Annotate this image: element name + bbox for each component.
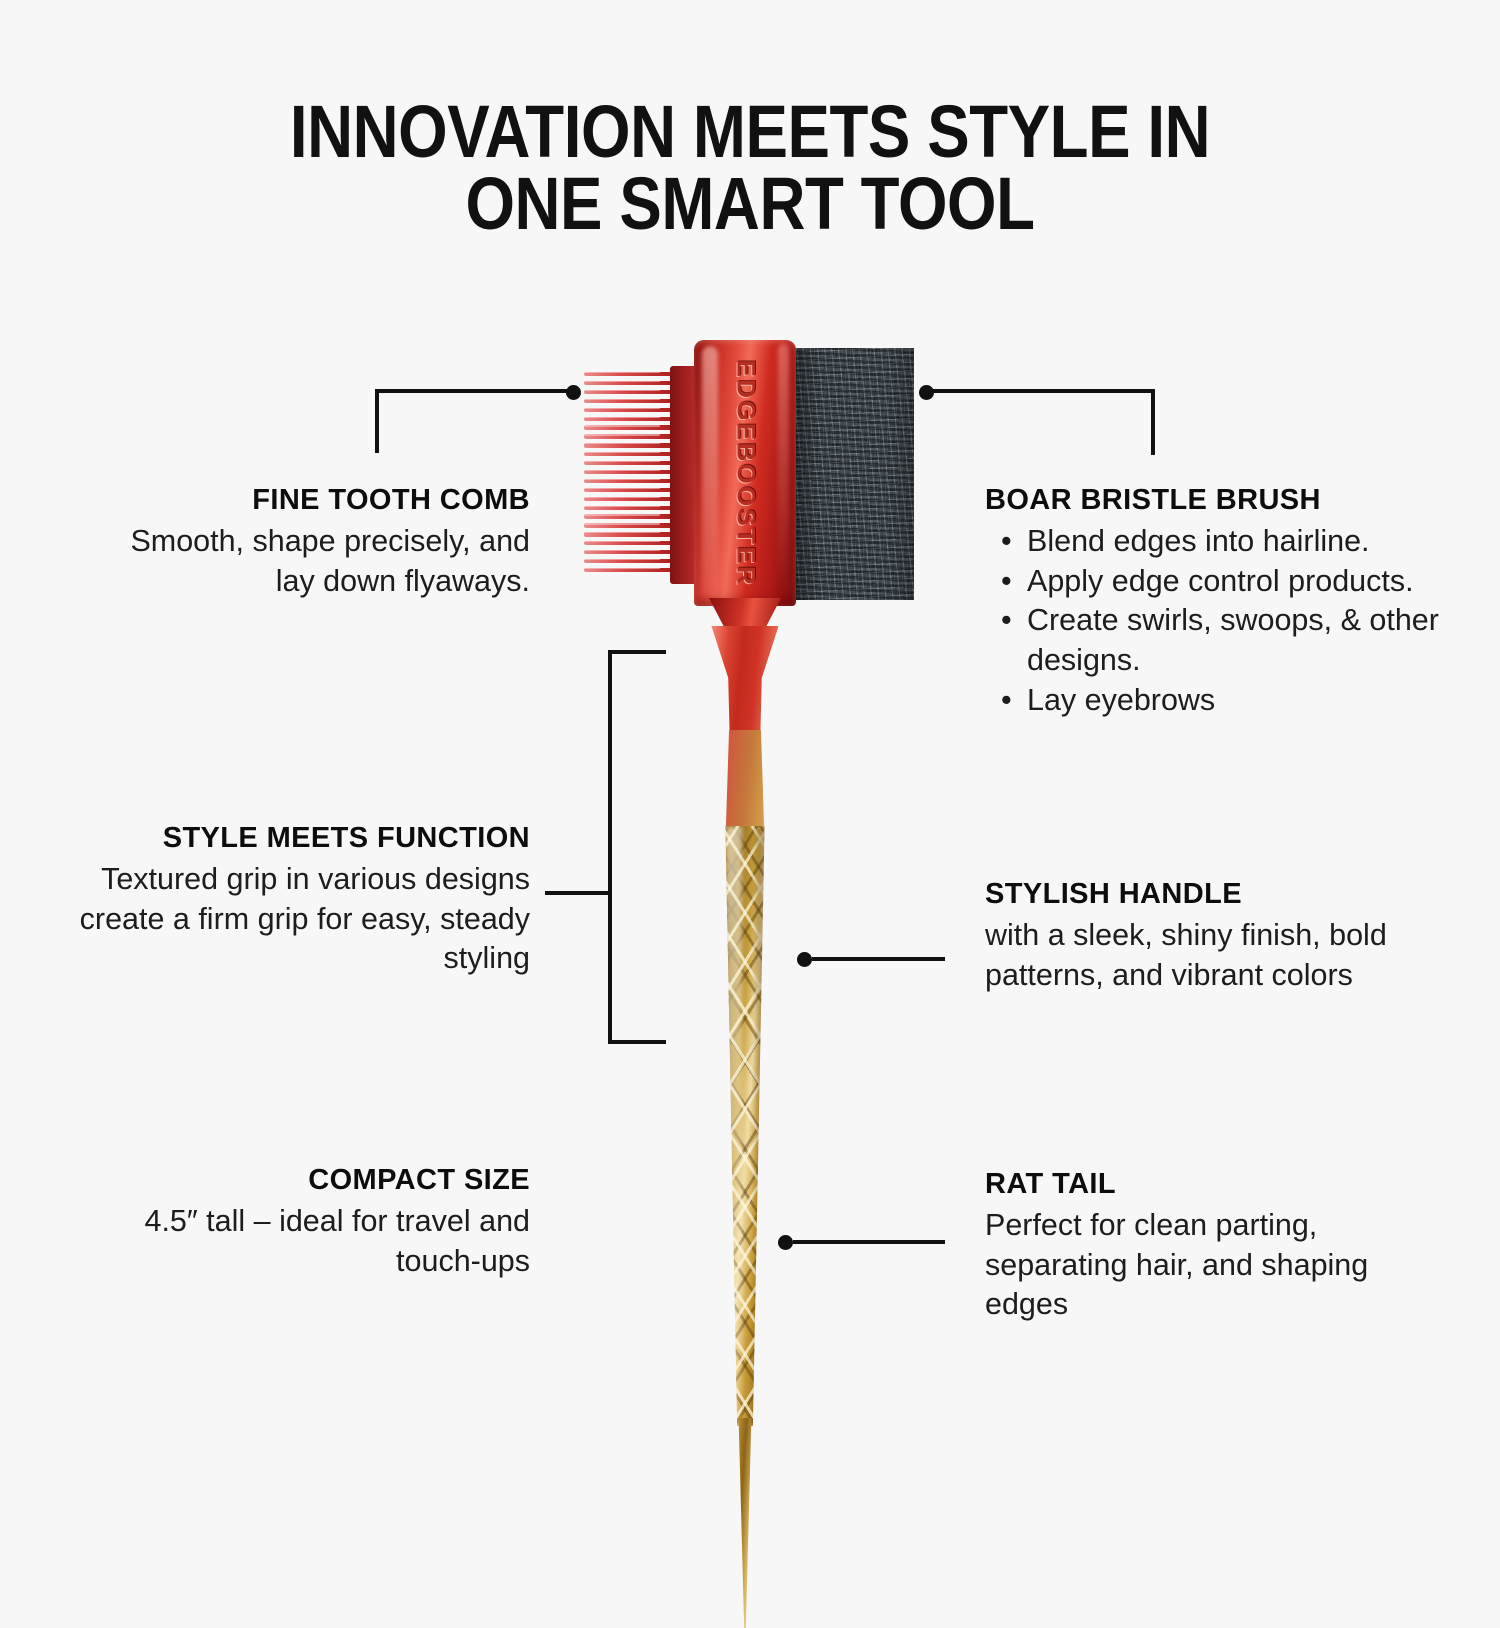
brush-body-red: EDGEBOOSTER bbox=[694, 340, 796, 606]
boar-bristle-brush-head bbox=[794, 348, 914, 600]
feature-title-stylish-handle: STYLISH HANDLE bbox=[985, 878, 1405, 911]
bullet-icon: • bbox=[1001, 562, 1012, 602]
leader-line-fine-tooth-comb-horizontal bbox=[375, 389, 573, 393]
leader-dot-boar-bristle bbox=[919, 385, 934, 400]
infographic-canvas: INNOVATION MEETS STYLE IN ONE SMART TOOL… bbox=[0, 0, 1500, 1500]
bullet-icon: • bbox=[1001, 522, 1012, 562]
feature-title-compact-size: COMPACT SIZE bbox=[140, 1164, 530, 1197]
feature-body-text: Perfect for clean parting, separating ha… bbox=[985, 1206, 1405, 1325]
leader-line-stylish-handle bbox=[812, 957, 945, 961]
handle-neck-transition bbox=[703, 730, 787, 834]
leader-dot-rat-tail bbox=[778, 1235, 793, 1250]
bullet-text: Create swirls, swoops, & other designs. bbox=[1027, 603, 1439, 677]
leader-line-fine-tooth-comb-vertical bbox=[375, 389, 379, 453]
page-title: INNOVATION MEETS STYLE IN ONE SMART TOOL bbox=[105, 96, 1395, 240]
headline-line-2: ONE SMART TOOL bbox=[105, 168, 1395, 240]
feature-title-fine-tooth-comb: FINE TOOTH COMB bbox=[120, 484, 530, 517]
feature-stylish-handle: STYLISH HANDLE with a sleek, shiny finis… bbox=[985, 878, 1405, 995]
handle-highlight bbox=[726, 826, 742, 1426]
feature-body-text: Smooth, shape precisely, and lay down fl… bbox=[120, 522, 530, 601]
feature-body-text: with a sleek, shiny finish, bold pattern… bbox=[985, 916, 1405, 995]
feature-bullet-list-boar-bristle: •Blend edges into hairline. •Apply edge … bbox=[985, 522, 1455, 720]
feature-title-boar-bristle-brush: BOAR BRISTLE BRUSH bbox=[985, 484, 1455, 517]
handle-lattice-pattern bbox=[696, 826, 794, 1426]
leader-brace-style-function-spine bbox=[608, 650, 612, 1044]
rat-tail-point bbox=[725, 1418, 765, 1628]
leader-brace-style-function-bottom-arm bbox=[608, 1040, 666, 1044]
leader-line-rat-tail bbox=[793, 1240, 945, 1244]
leader-dot-fine-tooth-comb bbox=[566, 385, 581, 400]
feature-body-fine-tooth-comb: Smooth, shape precisely, and lay down fl… bbox=[120, 522, 530, 601]
bullet-icon: • bbox=[1001, 601, 1012, 641]
feature-title-rat-tail: RAT TAIL bbox=[985, 1168, 1405, 1201]
handle-shadow bbox=[756, 826, 778, 1426]
brand-logo-embossed: EDGEBOOSTER bbox=[694, 340, 796, 606]
leader-dot-stylish-handle bbox=[797, 952, 812, 967]
feature-boar-bristle-brush: BOAR BRISTLE BRUSH •Blend edges into hai… bbox=[985, 484, 1455, 720]
bullet-text: Lay eyebrows bbox=[1027, 683, 1215, 717]
product-image-edge-booster-brush: EDGEBOOSTER bbox=[570, 326, 940, 1396]
feature-body-stylish-handle: with a sleek, shiny finish, bold pattern… bbox=[985, 916, 1405, 995]
bullet-text: Blend edges into hairline. bbox=[1027, 524, 1370, 558]
feature-body-rat-tail: Perfect for clean parting, separating ha… bbox=[985, 1206, 1405, 1325]
feature-fine-tooth-comb: FINE TOOTH COMB Smooth, shape precisely,… bbox=[120, 484, 530, 601]
feature-rat-tail: RAT TAIL Perfect for clean parting, sepa… bbox=[985, 1168, 1405, 1325]
feature-body-text: 4.5″ tall – ideal for travel and touch-u… bbox=[140, 1202, 530, 1281]
feature-style-meets-function: STYLE MEETS FUNCTION Textured grip in va… bbox=[60, 822, 530, 979]
leader-line-boar-bristle-vertical bbox=[1151, 389, 1155, 455]
feature-body-style-meets-function: Textured grip in various designs create … bbox=[60, 860, 530, 979]
list-item: •Apply edge control products. bbox=[985, 562, 1455, 602]
leader-brace-style-function-stem bbox=[545, 891, 612, 895]
handle-neck-red bbox=[703, 626, 787, 744]
textured-gold-handle bbox=[696, 826, 794, 1426]
feature-compact-size: COMPACT SIZE 4.5″ tall – ideal for trave… bbox=[140, 1164, 530, 1281]
brand-logo-text: EDGEBOOSTER bbox=[731, 359, 760, 586]
feature-title-style-meets-function: STYLE MEETS FUNCTION bbox=[60, 822, 530, 855]
list-item: •Create swirls, swoops, & other designs. bbox=[985, 601, 1455, 680]
list-item: •Blend edges into hairline. bbox=[985, 522, 1455, 562]
feature-body-compact-size: 4.5″ tall – ideal for travel and touch-u… bbox=[140, 1202, 530, 1281]
list-item: •Lay eyebrows bbox=[985, 681, 1455, 721]
headline-line-1: INNOVATION MEETS STYLE IN bbox=[290, 90, 1210, 173]
feature-body-text: Textured grip in various designs create … bbox=[60, 860, 530, 979]
bullet-icon: • bbox=[1001, 681, 1012, 721]
leader-line-boar-bristle-horizontal bbox=[933, 389, 1155, 393]
leader-brace-style-function-top-arm bbox=[608, 650, 666, 654]
bullet-text: Apply edge control products. bbox=[1027, 564, 1414, 598]
